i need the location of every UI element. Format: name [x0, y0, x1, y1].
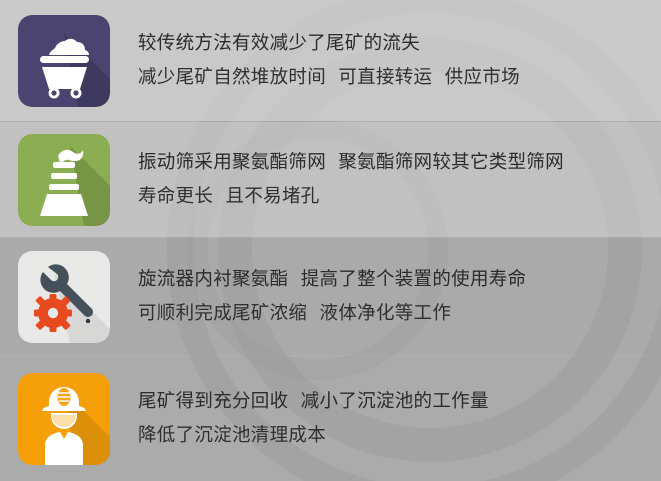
- benefit-row: 振动筛采用聚氨酯筛网 聚氨酯筛网较其它类型筛网 寿命更长 且不易堵孔: [0, 122, 661, 237]
- miner-worker-icon: [18, 373, 110, 465]
- benefit-text: 较传统方法有效减少了尾矿的流失 减少尾矿自然堆放时间 可直接转运 供应市场: [138, 27, 661, 95]
- benefit-row: 尾矿得到充分回收 减小了沉淀池的工作量 降低了沉淀池清理成本: [0, 356, 661, 481]
- benefit-text: 振动筛采用聚氨酯筛网 聚氨酯筛网较其它类型筛网 寿命更长 且不易堵孔: [138, 146, 661, 214]
- mine-cart-icon: [18, 15, 110, 107]
- benefit-row: 较传统方法有效减少了尾矿的流失 减少尾矿自然堆放时间 可直接转运 供应市场: [0, 0, 661, 121]
- benefit-line-1: 较传统方法有效减少了尾矿的流失: [138, 27, 651, 61]
- benefit-line-1: 振动筛采用聚氨酯筛网 聚氨酯筛网较其它类型筛网: [138, 146, 651, 180]
- benefit-line-1: 尾矿得到充分回收 减小了沉淀池的工作量: [138, 385, 651, 419]
- benefit-text: 旋流器内衬聚氨酯 提高了整个装置的使用寿命 可顺利完成尾矿浓缩 液体净化等工作: [138, 263, 661, 331]
- factory-icon: [18, 134, 110, 226]
- benefits-panel: 较传统方法有效减少了尾矿的流失 减少尾矿自然堆放时间 可直接转运 供应市场 振动…: [0, 0, 661, 481]
- benefit-line-2: 降低了沉淀池清理成本: [138, 419, 651, 453]
- benefit-row: 旋流器内衬聚氨酯 提高了整个装置的使用寿命 可顺利完成尾矿浓缩 液体净化等工作: [0, 238, 661, 355]
- benefit-line-2: 寿命更长 且不易堵孔: [138, 180, 651, 214]
- benefit-text: 尾矿得到充分回收 减小了沉淀池的工作量 降低了沉淀池清理成本: [138, 385, 661, 453]
- benefit-line-2: 减少尾矿自然堆放时间 可直接转运 供应市场: [138, 61, 651, 95]
- benefit-line-1: 旋流器内衬聚氨酯 提高了整个装置的使用寿命: [138, 263, 651, 297]
- wrench-gear-icon: [18, 251, 110, 343]
- benefit-line-2: 可顺利完成尾矿浓缩 液体净化等工作: [138, 297, 651, 331]
